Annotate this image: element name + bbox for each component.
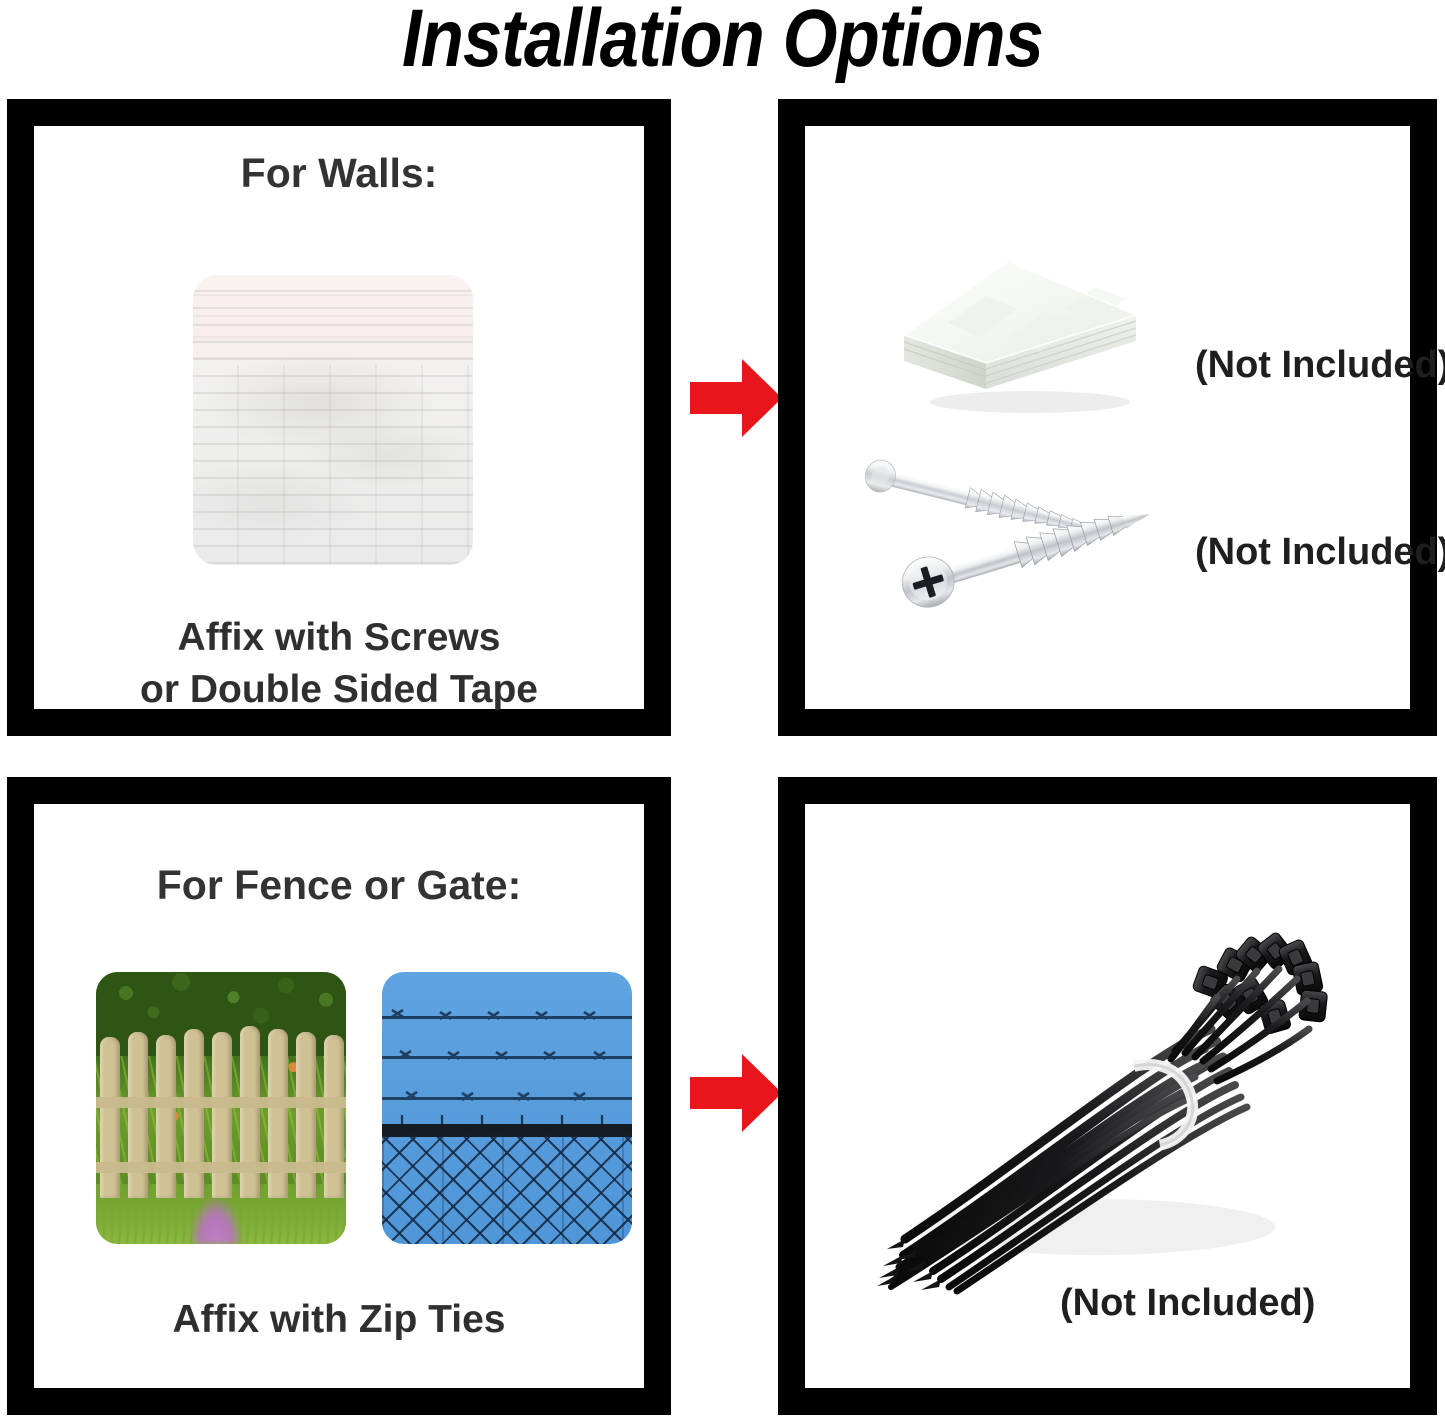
- panel-wall-hardware: (Not Included): [778, 99, 1437, 736]
- wooden-picket-fence-photo: [96, 972, 346, 1244]
- for-fence-heading: For Fence or Gate:: [34, 862, 644, 909]
- for-walls-heading: For Walls:: [34, 150, 644, 197]
- right-arrow-icon-bottom: [688, 1052, 784, 1134]
- white-brick-wall-photo: [193, 275, 473, 565]
- right-arrow-icon-top: [688, 357, 784, 439]
- screws-not-included-label: (Not Included): [1195, 531, 1445, 574]
- chain-link-barbed-wire-fence-photo: [382, 972, 632, 1244]
- tape-not-included-label: (Not Included): [1195, 344, 1445, 387]
- installation-options-infographic: Installation Options For Walls: Affix wi…: [0, 0, 1445, 1422]
- panel-for-fence-or-gate: For Fence or Gate:: [7, 777, 671, 1415]
- double-sided-tape-stack: [890, 239, 1148, 419]
- walls-caption-line-2: or Double Sided Tape: [34, 668, 644, 712]
- fence-caption-line-1: Affix with Zip Ties: [34, 1298, 644, 1342]
- panel-fence-hardware: (Not Included): [778, 777, 1437, 1415]
- page-title: Installation Options: [101, 0, 1344, 86]
- walls-caption-line-1: Affix with Screws: [34, 616, 644, 660]
- zipties-not-included-label: (Not Included): [1060, 1282, 1315, 1325]
- wood-screws: [840, 451, 1200, 626]
- black-zip-ties-bundle: [845, 909, 1335, 1309]
- panel-for-walls: For Walls: Affix with Screws or Double S…: [7, 99, 671, 736]
